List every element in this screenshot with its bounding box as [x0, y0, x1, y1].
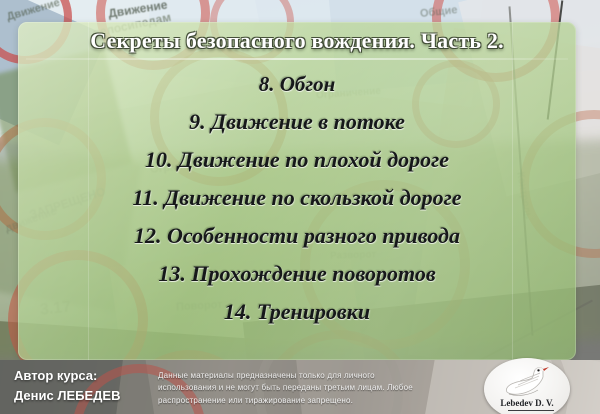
table-of-contents: 8. Обгон 9. Движение в потоке 10. Движен…	[18, 66, 576, 323]
list-item: 11. Движение по скользкой дороге	[18, 187, 576, 209]
page-title: Секреты безопасного вождения. Часть 2.	[18, 28, 576, 54]
title-divider	[26, 58, 568, 60]
list-item: 12. Особенности разного привода	[18, 225, 576, 247]
presentation-slide: Движение Движение велосипедам ЗАПРЕЩЕНО …	[0, 0, 600, 414]
disclaimer-line: распространение или тиражирование запрещ…	[158, 395, 458, 407]
author-block: Автор курса: Денис ЛЕБЕДЕВ	[14, 366, 164, 406]
author-label: Автор курса:	[14, 366, 164, 386]
list-item: 13. Прохождение поворотов	[18, 263, 576, 285]
list-item: 8. Обгон	[18, 74, 576, 95]
brand-logo: Lebedev D. V.	[484, 364, 570, 414]
logo-underline	[508, 410, 554, 411]
content-panel: Секреты безопасного вождения. Часть 2. 8…	[18, 22, 576, 360]
author-name: Денис ЛЕБЕДЕВ	[14, 386, 164, 406]
copyright-disclaimer: Данные материалы предназначены только дл…	[158, 370, 458, 407]
logo-name: Lebedev D. V.	[484, 398, 570, 408]
disclaimer-line: использования и не могут быть переданы т…	[158, 382, 458, 394]
swan-icon	[496, 364, 558, 398]
list-item: 10. Движение по плохой дороге	[18, 149, 576, 171]
list-item: 14. Тренировки	[18, 301, 576, 323]
title-area: Секреты безопасного вождения. Часть 2.	[18, 22, 576, 58]
list-item: 9. Движение в потоке	[18, 111, 576, 133]
disclaimer-line: Данные материалы предназначены только дл…	[158, 370, 458, 382]
